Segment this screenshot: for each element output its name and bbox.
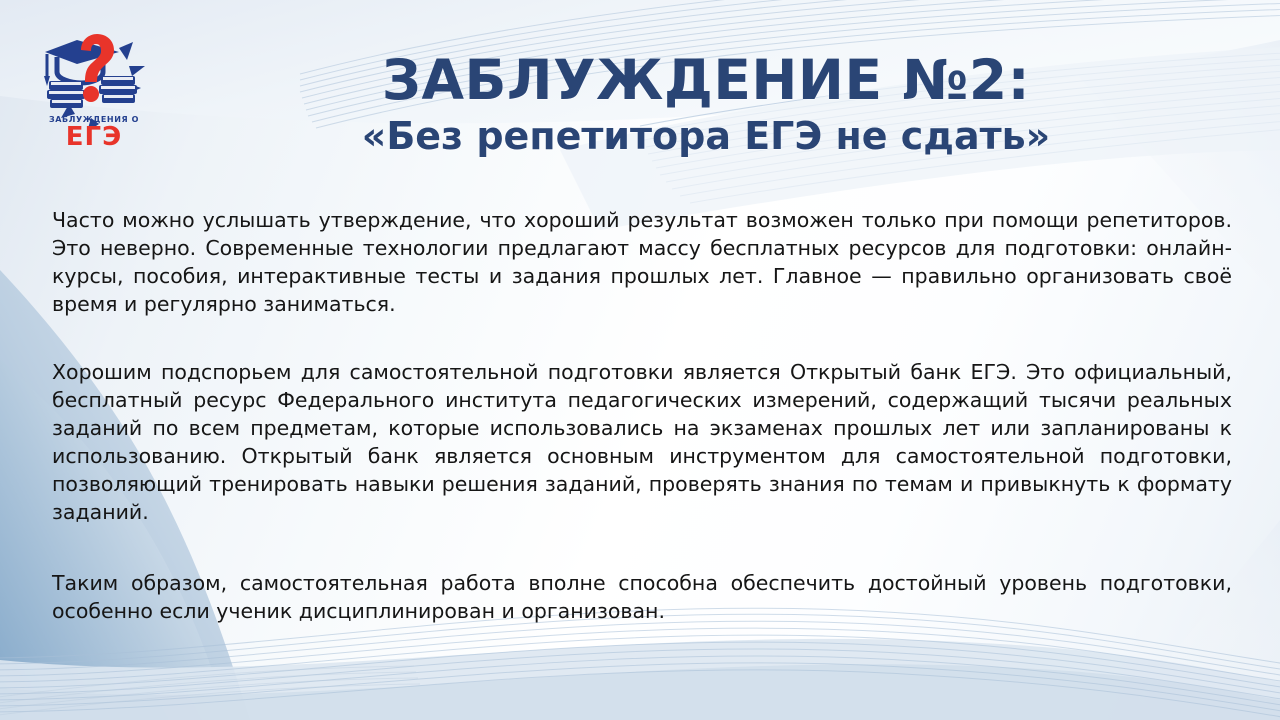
- paragraph-2: Хорошим подспорьем для самостоятельной п…: [52, 358, 1232, 526]
- page-title: ЗАБЛУЖДЕНИЕ №2:: [176, 52, 1236, 108]
- paragraph-3: Таким образом, самостоятельная работа вп…: [52, 569, 1232, 625]
- slide-canvas: ЗАБЛУЖДЕНИЯ О ЕГЭ ЗАБЛУЖДЕНИЕ №2: «Без р…: [0, 0, 1280, 720]
- body-copy: Часто можно услышать утверждение, что хо…: [52, 206, 1232, 625]
- zabluzhdeniya-o-ege-logo: ЗАБЛУЖДЕНИЯ О ЕГЭ: [33, 26, 155, 148]
- logo-caption-large: ЕГЭ: [66, 122, 122, 148]
- paragraph-1: Часто можно услышать утверждение, что хо…: [52, 206, 1232, 318]
- title-block: ЗАБЛУЖДЕНИЕ №2: «Без репетитора ЕГЭ не с…: [176, 52, 1236, 157]
- page-subtitle: «Без репетитора ЕГЭ не сдать»: [176, 117, 1236, 157]
